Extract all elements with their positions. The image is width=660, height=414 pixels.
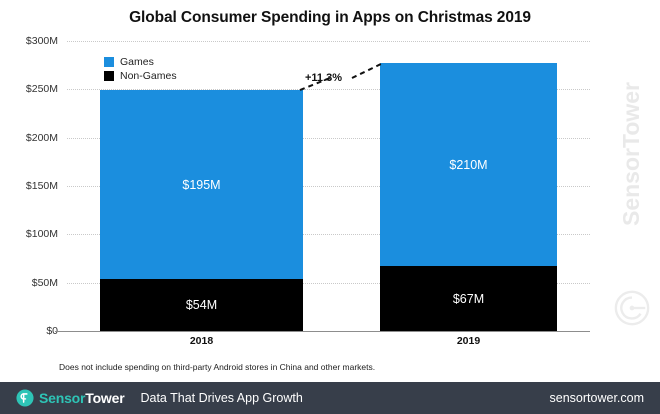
bar-2019-games-value: $210M: [449, 158, 487, 172]
disclaimer-text: Does not include spending on third-party…: [59, 362, 375, 372]
y-tick-100: $100M: [0, 228, 58, 240]
footer-url[interactable]: sensortower.com: [550, 391, 644, 405]
footer-bar: SensorTower Data That Drives App Growth …: [0, 382, 660, 414]
y-tick-300: $300M: [0, 35, 58, 47]
y-tick-50: $50M: [0, 277, 58, 289]
chart-screenshot: Global Consumer Spending in Apps on Chri…: [0, 0, 660, 414]
bar-2018[interactable]: $195M $54M: [100, 90, 303, 331]
legend-swatch-games-icon: [104, 57, 114, 67]
x-tick-2018: 2018: [100, 335, 303, 347]
sensortower-wordmark: SensorTower: [39, 390, 124, 406]
page-title: Global Consumer Spending in Apps on Chri…: [0, 9, 660, 27]
legend-label-games: Games: [120, 56, 154, 68]
bar-2018-non-games-value: $54M: [186, 298, 217, 312]
x-tick-2019: 2019: [380, 335, 557, 347]
legend-swatch-non-games-icon: [104, 71, 114, 81]
legend-item-non-games[interactable]: Non-Games: [104, 69, 177, 82]
legend-item-games[interactable]: Games: [104, 55, 177, 68]
sensortower-logo-icon: [16, 389, 34, 407]
legend-label-non-games: Non-Games: [120, 70, 177, 82]
gridline-300: [67, 41, 590, 42]
sensortower-logo[interactable]: SensorTower: [16, 389, 124, 407]
footer-tagline: Data That Drives App Growth: [140, 391, 302, 405]
growth-percentage-label: +11.3%: [305, 72, 342, 84]
y-tick-150: $150M: [0, 180, 58, 192]
bar-2018-segment-non-games[interactable]: $54M: [100, 279, 303, 331]
wordmark-sensor: Sensor: [39, 390, 85, 406]
bar-2019-non-games-value: $67M: [453, 292, 484, 306]
y-tick-200: $200M: [0, 132, 58, 144]
wordmark-tower: Tower: [85, 390, 124, 406]
bar-2019[interactable]: $210M $67M: [380, 63, 557, 331]
bar-2018-segment-games[interactable]: $195M: [100, 90, 303, 279]
y-tick-250: $250M: [0, 83, 58, 95]
plot-area: $195M $54M $210M $67M: [67, 41, 590, 331]
chart-legend: Games Non-Games: [104, 55, 177, 83]
x-axis-line: [55, 331, 590, 332]
bar-2019-segment-non-games[interactable]: $67M: [380, 266, 557, 331]
y-tick-0: $0: [0, 325, 58, 337]
bar-2019-segment-games[interactable]: $210M: [380, 63, 557, 266]
bar-2018-games-value: $195M: [182, 178, 220, 192]
